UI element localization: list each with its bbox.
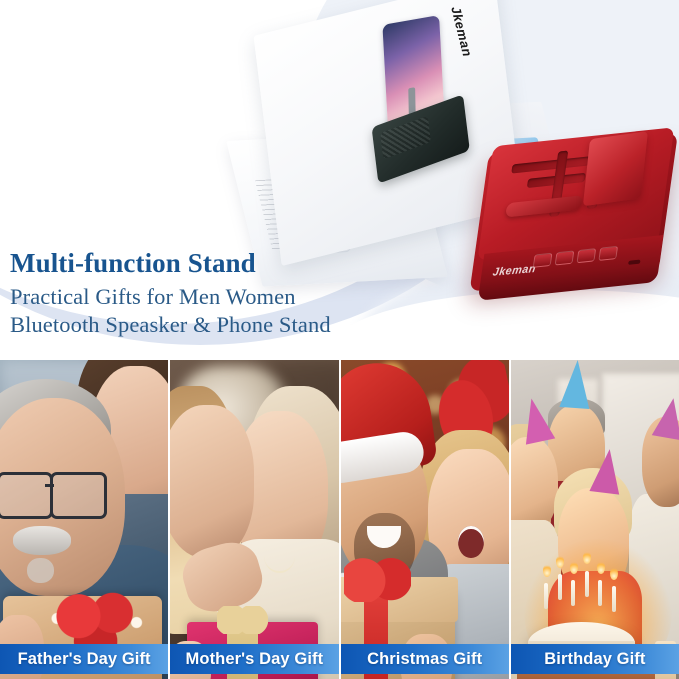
- occasion-panel-fathers-day: Father's Day Gift: [0, 360, 168, 679]
- panel-label-text: Birthday Gift: [544, 650, 645, 669]
- photo-fathers-day: [0, 360, 168, 679]
- marketing-copy: Multi-function Stand Practical Gifts for…: [10, 248, 570, 339]
- occasion-panel-christmas: Christmas Gift: [341, 360, 509, 679]
- panel-label-christmas: Christmas Gift: [341, 644, 509, 674]
- headline: Multi-function Stand: [10, 248, 570, 278]
- photo-birthday: [511, 360, 679, 679]
- product-marketing-image: Phone Stand with Bluetooth Speaker Jkema…: [0, 0, 679, 679]
- photo-mothers-day: [170, 360, 338, 679]
- subheadline-line2: Bluetooth Speasker & Phone Stand: [10, 311, 570, 339]
- occasion-panel-mothers-day: Mother's Day Gift: [170, 360, 338, 679]
- panel-label-text: Father's Day Gift: [18, 650, 151, 669]
- panel-label-fathers-day: Father's Day Gift: [0, 644, 168, 674]
- device-phone-backrest: [583, 131, 648, 206]
- panel-label-birthday: Birthday Gift: [511, 644, 679, 674]
- panel-label-mothers-day: Mother's Day Gift: [170, 644, 338, 674]
- subheadline-line1: Practical Gifts for Men Women: [10, 283, 570, 311]
- panel-label-text: Mother's Day Gift: [186, 650, 324, 669]
- occasion-panel-birthday: Birthday Gift: [511, 360, 679, 679]
- photo-christmas: [341, 360, 509, 679]
- panel-label-text: Christmas Gift: [367, 650, 482, 669]
- occasion-photo-strip: Father's Day Gift Mother's Day Gift: [0, 360, 679, 679]
